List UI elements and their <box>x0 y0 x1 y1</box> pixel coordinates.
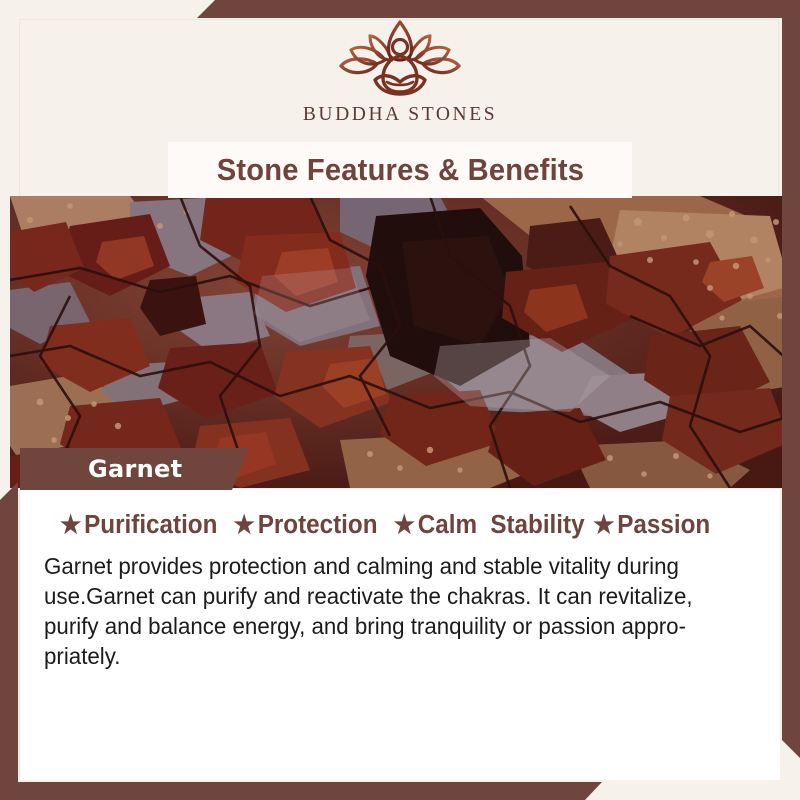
stone-photo <box>10 196 790 488</box>
feature-item-purification: ★ Purification <box>60 511 217 540</box>
frame-band-left <box>0 482 18 800</box>
stone-description: Garnet provides protection and calming a… <box>44 551 747 671</box>
stone-name-banner: Garnet <box>20 448 248 490</box>
star-icon: ★ <box>394 513 415 538</box>
star-icon: ★ <box>60 513 81 538</box>
feature-label: Stability <box>490 511 584 540</box>
stone-name: Garnet <box>88 455 182 483</box>
brand-logo: BUDDHA STONES <box>303 16 497 126</box>
feature-item-passion: ★ Passion <box>593 511 710 540</box>
feature-item-calm: ★ Calm <box>394 511 477 540</box>
feature-label: Calm <box>418 511 477 540</box>
feature-label: Protection <box>258 511 378 540</box>
feature-label: Purification <box>84 511 217 540</box>
garnet-crystal-cluster-photo <box>10 196 790 488</box>
feature-item-protection: ★ Protection <box>234 511 378 540</box>
brand-header: BUDDHA STONES <box>0 0 800 148</box>
frame-band-bottom <box>0 782 800 800</box>
feature-label: Passion <box>617 511 710 540</box>
brand-name: BUDDHA STONES <box>303 104 497 126</box>
star-icon: ★ <box>593 513 614 538</box>
star-icon: ★ <box>234 513 255 538</box>
frame-band-right <box>782 0 800 758</box>
description-card: ★ Purification ★ Protection ★ Calm Stabi… <box>20 489 780 780</box>
section-title-banner: Stone Features & Benefits <box>168 142 632 198</box>
feature-item-stability: Stability <box>490 511 584 540</box>
page-title: Stone Features & Benefits <box>216 152 583 188</box>
feature-list: ★ Purification ★ Protection ★ Calm Stabi… <box>60 511 716 540</box>
lotus-meditation-figure-icon <box>325 16 475 102</box>
poster-root: BUDDHA STONES Stone Features & Benefits <box>0 0 800 800</box>
